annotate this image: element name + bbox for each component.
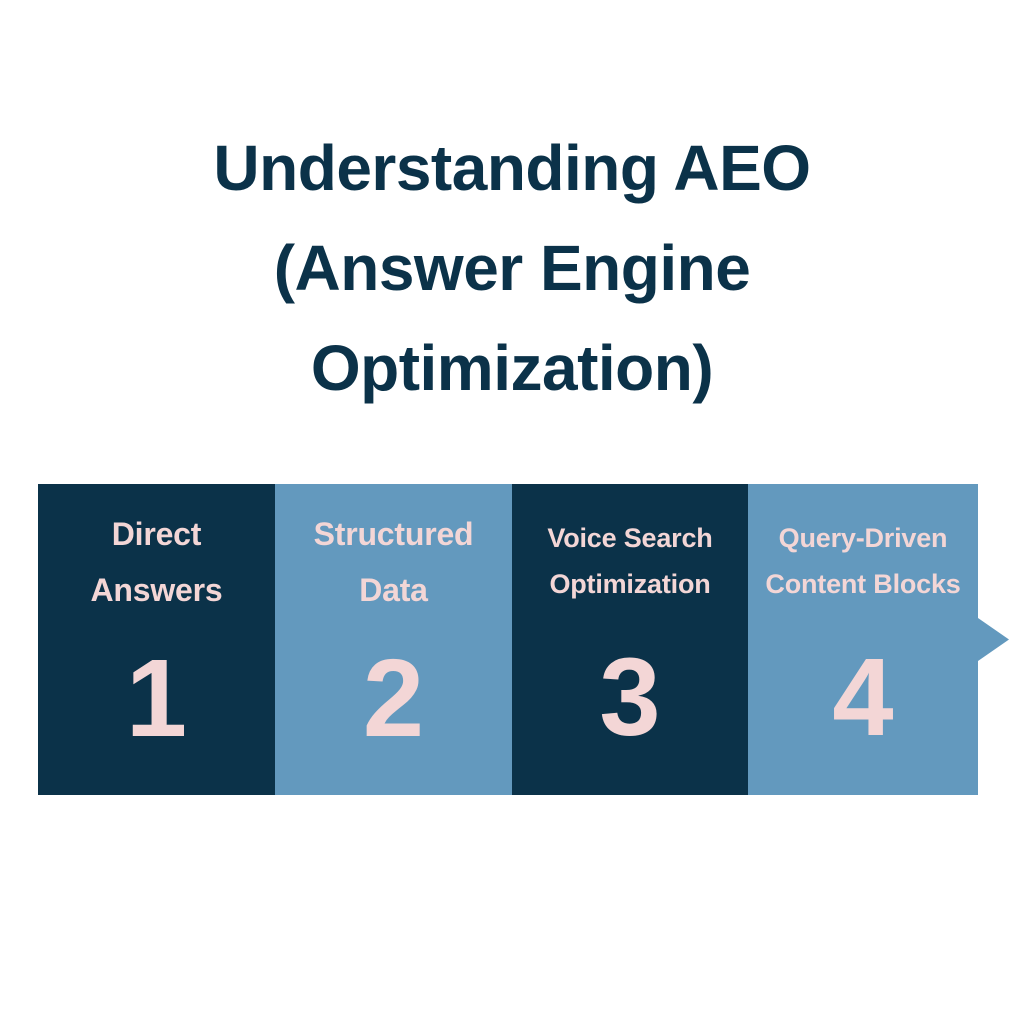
chevron-shape-3 [512,484,778,795]
process-step-1[interactable]: Direct Answers 1 [38,484,305,795]
chevron-shape-2 [275,484,542,795]
title-line-2: (Answer Engine [0,218,1024,318]
process-step-3[interactable]: Voice Search Optimization 3 [512,484,778,795]
infographic-canvas: Understanding AEO (Answer Engine Optimiz… [0,0,1024,1024]
process-chevron-strip: Direct Answers 1 Structured Data 2 Voice… [0,484,1024,795]
chevron-shape-4 [748,484,1009,795]
title-line-3: Optimization) [0,318,1024,418]
process-step-4[interactable]: Query-Driven Content Blocks 4 [748,484,1009,795]
title-line-1: Understanding AEO [0,118,1024,218]
process-step-2[interactable]: Structured Data 2 [275,484,542,795]
page-title: Understanding AEO (Answer Engine Optimiz… [0,118,1024,418]
chevron-shape-1 [38,484,305,795]
